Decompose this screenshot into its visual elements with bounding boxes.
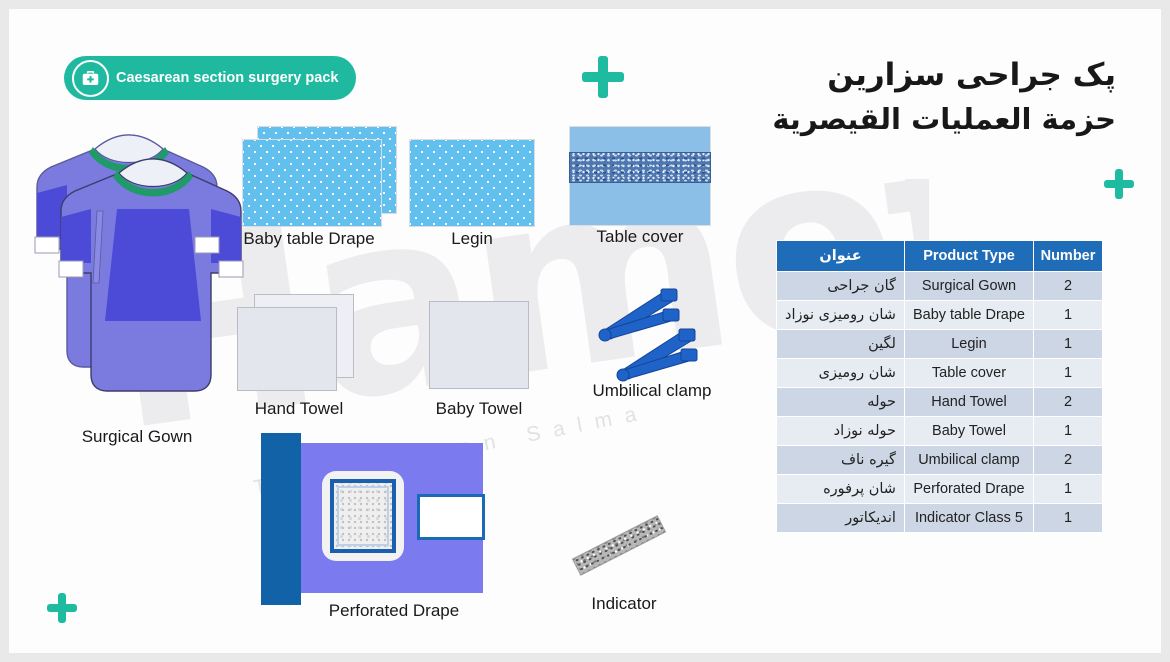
table-row: اندیکاتور Indicator Class 5 1: [777, 504, 1103, 533]
baby-towel-label: Baby Towel: [399, 399, 559, 419]
perforated-drape-fenestration-inner: [330, 479, 396, 553]
title-persian: پک جراحی سزارین: [827, 57, 1116, 93]
row-product-type: Table cover: [904, 359, 1033, 388]
surgical-gown-illustration: [17, 127, 249, 427]
row-number: 1: [1034, 301, 1103, 330]
header-number: Number: [1034, 241, 1103, 272]
baby-table-drape-label: Baby table Drape: [209, 229, 409, 249]
table-cover-texture-band: [569, 152, 711, 183]
row-number: 2: [1034, 446, 1103, 475]
product-pack-poster: Hamotab Tis Poushan Salma Caesarean sect…: [0, 0, 1170, 662]
plus-icon-top: [582, 56, 624, 98]
row-number: 1: [1034, 475, 1103, 504]
row-title-fa: لگین: [777, 330, 905, 359]
table-row: شان پرفوره Perforated Drape 1: [777, 475, 1103, 504]
title-arabic: حزمة العمليات القيصرية: [772, 102, 1116, 136]
row-product-type: Indicator Class 5: [904, 504, 1033, 533]
perforated-drape-fenestration: [322, 471, 404, 561]
table-row: شان رومیزی نوزاد Baby table Drape 1: [777, 301, 1103, 330]
table-row: گیره ناف Umbilical clamp 2: [777, 446, 1103, 475]
perforated-drape-label: Perforated Drape: [299, 601, 489, 621]
hand-towel-front: [237, 307, 337, 391]
pack-badge-label: Caesarean section surgery pack: [116, 70, 338, 86]
row-title-fa: گیره ناف: [777, 446, 905, 475]
row-title-fa: اندیکاتور: [777, 504, 905, 533]
row-title-fa: شان رومیزی نوزاد: [777, 301, 905, 330]
row-title-fa: گان جراحی: [777, 272, 905, 301]
medical-bag-icon: [72, 60, 109, 97]
row-product-type: Baby table Drape: [904, 301, 1033, 330]
table-header-row: عنوان Product Type Number: [777, 241, 1103, 272]
row-product-type: Perforated Drape: [904, 475, 1033, 504]
indicator-label: Indicator: [554, 594, 694, 614]
pack-badge: Caesarean section surgery pack: [64, 56, 356, 100]
plus-icon-bottom-left: [47, 593, 77, 623]
row-title-fa: حوله: [777, 388, 905, 417]
row-product-type: Hand Towel: [904, 388, 1033, 417]
hand-towel-label: Hand Towel: [219, 399, 379, 419]
product-list-table: عنوان Product Type Number گان جراحی Surg…: [776, 240, 1103, 533]
table-row: لگین Legin 1: [777, 330, 1103, 359]
row-product-type: Surgical Gown: [904, 272, 1033, 301]
baby-table-drape-sheet-front: [242, 139, 382, 227]
perforated-drape-edge-bar: [261, 433, 301, 605]
table-row: حوله نوزاد Baby Towel 1: [777, 417, 1103, 446]
plus-icon-right: [1104, 169, 1134, 199]
row-number: 1: [1034, 504, 1103, 533]
table-cover-label: Table cover: [560, 227, 720, 247]
row-title-fa: شان رومیزی: [777, 359, 905, 388]
table-row: حوله Hand Towel 2: [777, 388, 1103, 417]
header-product-type: Product Type: [904, 241, 1033, 272]
row-number: 1: [1034, 330, 1103, 359]
table-row: شان رومیزی Table cover 1: [777, 359, 1103, 388]
row-number: 1: [1034, 359, 1103, 388]
header-title-fa: عنوان: [777, 241, 905, 272]
legin-sheet: [409, 139, 535, 227]
umbilical-clamp-label: Umbilical clamp: [567, 381, 737, 401]
row-title-fa: حوله نوزاد: [777, 417, 905, 446]
row-title-fa: شان پرفوره: [777, 475, 905, 504]
row-number: 2: [1034, 272, 1103, 301]
row-number: 1: [1034, 417, 1103, 446]
row-product-type: Baby Towel: [904, 417, 1033, 446]
indicator-strip: [572, 515, 666, 576]
perforated-drape-flap: [417, 494, 485, 540]
row-number: 2: [1034, 388, 1103, 417]
surgical-gown-label: Surgical Gown: [37, 427, 237, 447]
row-product-type: Legin: [904, 330, 1033, 359]
table-row: گان جراحی Surgical Gown 2: [777, 272, 1103, 301]
umbilical-clamp-illustration: [589, 287, 709, 383]
row-product-type: Umbilical clamp: [904, 446, 1033, 475]
legin-label: Legin: [402, 229, 542, 249]
baby-towel: [429, 301, 529, 389]
poster-canvas: Hamotab Tis Poushan Salma Caesarean sect…: [9, 9, 1161, 653]
